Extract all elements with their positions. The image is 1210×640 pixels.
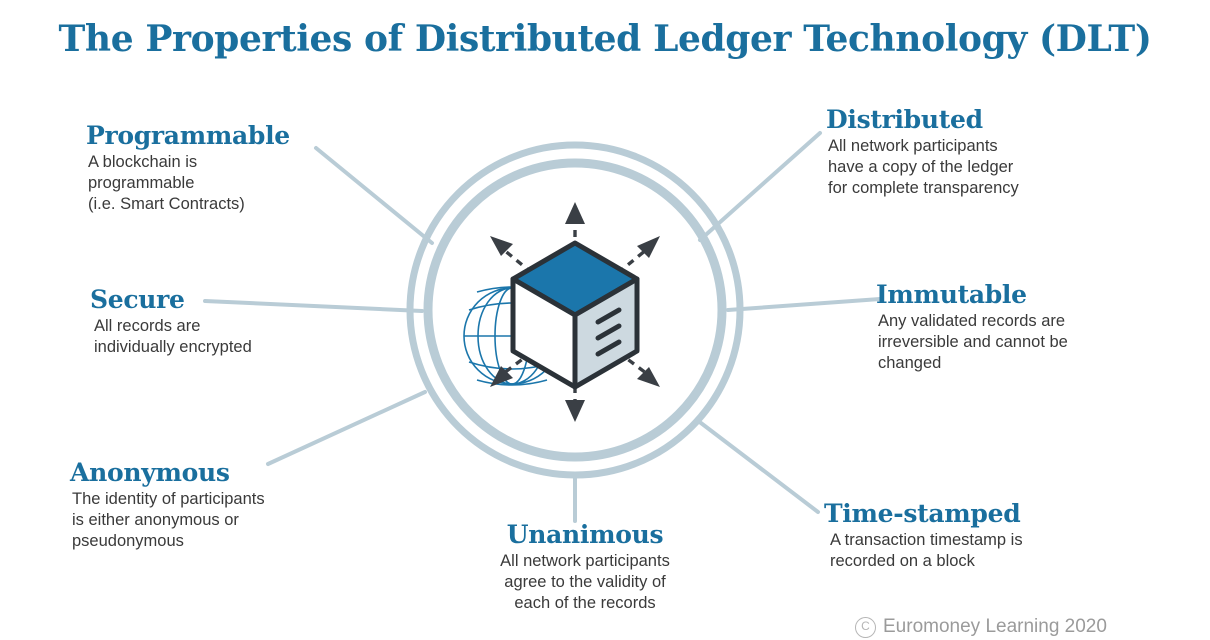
property-body: A blockchain is programmable (i.e. Smart…: [88, 152, 290, 215]
property-heading: Time-stamped: [824, 500, 1023, 528]
property-body-line: programmable: [88, 173, 290, 194]
property-body-line: irreversible and cannot be: [878, 332, 1068, 353]
property-heading: Distributed: [826, 106, 1019, 134]
property-body-line: for complete transparency: [828, 178, 1019, 199]
property-body-line: The identity of participants: [72, 489, 265, 510]
copyright-icon: C: [855, 617, 876, 638]
connector-anonymous: [268, 392, 425, 464]
property-body-line: All records are: [94, 316, 252, 337]
property-heading: Secure: [90, 286, 252, 314]
property-heading: Anonymous: [70, 459, 265, 487]
infographic-canvas: The Properties of Distributed Ledger Tec…: [0, 0, 1210, 640]
property-anonymous: Anonymous The identity of participants i…: [70, 459, 265, 552]
property-heading: Unanimous: [435, 521, 735, 549]
copyright-text: Euromoney Learning 2020: [883, 616, 1107, 638]
property-body-line: A transaction timestamp is: [830, 530, 1023, 551]
page-title: The Properties of Distributed Ledger Tec…: [0, 18, 1210, 60]
property-body-line: All network participants: [828, 136, 1019, 157]
property-body-line: individually encrypted: [94, 337, 252, 358]
property-body-line: changed: [878, 353, 1068, 374]
property-distributed: Distributed All network participants hav…: [826, 106, 1019, 199]
property-body-line: (i.e. Smart Contracts): [88, 194, 290, 215]
property-body-line: each of the records: [435, 593, 735, 614]
property-body-line: pseudonymous: [72, 531, 265, 552]
center-graphic: [405, 140, 745, 480]
property-body: Any validated records are irreversible a…: [878, 311, 1068, 374]
property-body-line: All network participants: [435, 551, 735, 572]
property-body: All records are individually encrypted: [94, 316, 252, 358]
connector-immutable: [728, 299, 880, 310]
property-body: The identity of participants is either a…: [72, 489, 265, 552]
property-body: A transaction timestamp is recorded on a…: [830, 530, 1023, 572]
property-body-line: agree to the validity of: [435, 572, 735, 593]
property-body-line: recorded on a block: [830, 551, 1023, 572]
property-heading: Programmable: [86, 122, 290, 150]
property-body: All network participants have a copy of …: [828, 136, 1019, 199]
property-timestamped: Time-stamped A transaction timestamp is …: [824, 500, 1023, 572]
property-programmable: Programmable A blockchain is programmabl…: [86, 122, 290, 215]
property-body-line: A blockchain is: [88, 152, 290, 173]
cube-icon: [513, 243, 637, 387]
property-heading: Immutable: [876, 281, 1068, 309]
property-immutable: Immutable Any validated records are irre…: [876, 281, 1068, 374]
property-unanimous: Unanimous All network participants agree…: [435, 521, 735, 614]
property-body-line: Any validated records are: [878, 311, 1068, 332]
copyright-footer: C Euromoney Learning 2020: [855, 616, 1107, 638]
property-body-line: have a copy of the ledger: [828, 157, 1019, 178]
property-body-line: is either anonymous or: [72, 510, 265, 531]
property-secure: Secure All records are individually encr…: [90, 286, 252, 358]
property-body: All network participants agree to the va…: [435, 551, 735, 614]
